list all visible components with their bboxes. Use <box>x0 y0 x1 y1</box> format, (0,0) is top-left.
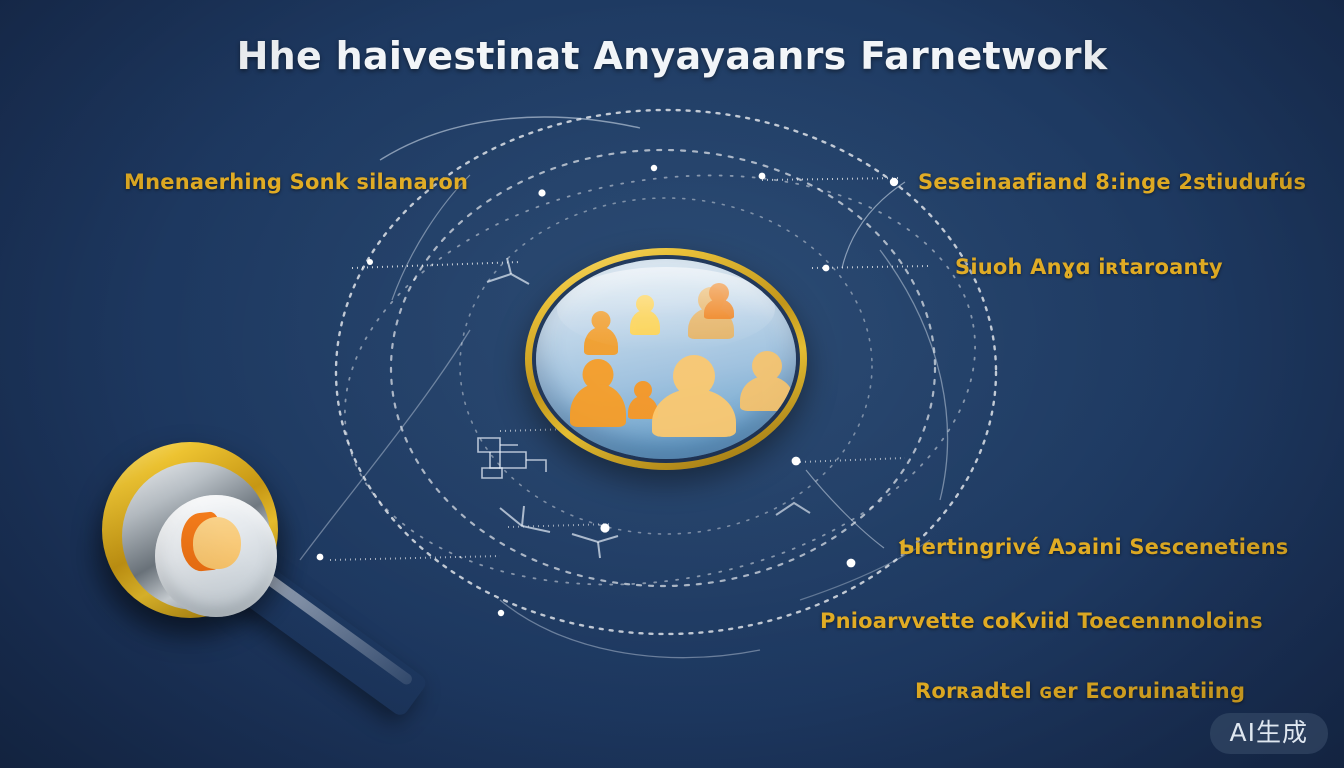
tick-run-4 <box>812 266 930 268</box>
globe-person-icon <box>704 283 734 319</box>
node-cluster-right <box>776 503 810 515</box>
connector-strand-1 <box>380 117 640 160</box>
person-body-icon <box>652 389 736 437</box>
illustration-canvas: Hhe haivestinat Anyayaanrs Farnetwork Mn… <box>0 0 1344 768</box>
person-body-icon <box>570 384 626 427</box>
tick-run-5 <box>800 458 905 462</box>
magnifying-glass <box>96 436 446 746</box>
node-cluster-mid <box>500 506 550 532</box>
globe-person-icon <box>630 295 660 335</box>
label-right-4: Pnioarvvette coKviid Toecennnoloins <box>820 609 1263 633</box>
globe-surface <box>536 259 796 459</box>
connector-strand-4 <box>500 600 760 658</box>
person-body-icon <box>704 299 734 319</box>
label-left-1: Mnenaerhing Sonk silanaron <box>124 170 468 194</box>
page-title: Hhe haivestinat Anyayaanrs Farnetwork <box>0 34 1344 78</box>
globe-person-icon <box>584 311 618 355</box>
person-body-icon <box>584 327 618 355</box>
connector-strand-6 <box>806 470 884 548</box>
magnifier-lens <box>155 495 277 617</box>
magnifier-bezel <box>122 462 270 610</box>
connector-strand-3 <box>880 250 948 500</box>
person-body-icon <box>740 376 794 411</box>
connector-strand-5 <box>842 182 905 268</box>
ai-watermark: AI生成 <box>1210 713 1328 754</box>
person-body-icon <box>630 310 660 335</box>
tick-run-7 <box>762 178 900 180</box>
globe-person-icon <box>570 359 626 427</box>
magnifier-frame <box>102 442 278 618</box>
magnifier-handle-highlight <box>257 568 414 686</box>
tick-run-1 <box>352 262 520 268</box>
lens-person-body-icon <box>177 557 255 617</box>
label-right-2: Siuoh Anɣɑ iʀtaroanty <box>955 255 1223 279</box>
node-cluster-upper <box>487 258 529 284</box>
tick-run-6 <box>508 524 612 527</box>
label-right-3: Ƅiertingrivé Aɔaini Sescenetiens <box>898 535 1288 559</box>
central-globe <box>525 248 807 470</box>
node-cluster-bottom <box>572 534 618 558</box>
label-right-5: Rorʀadtel ɢer Ecoruinatiing <box>915 679 1245 703</box>
label-right-1: Seseinaafiand 8:inge 2stiudufús <box>918 170 1306 194</box>
globe-person-icon <box>652 355 736 437</box>
globe-person-icon <box>740 351 794 411</box>
